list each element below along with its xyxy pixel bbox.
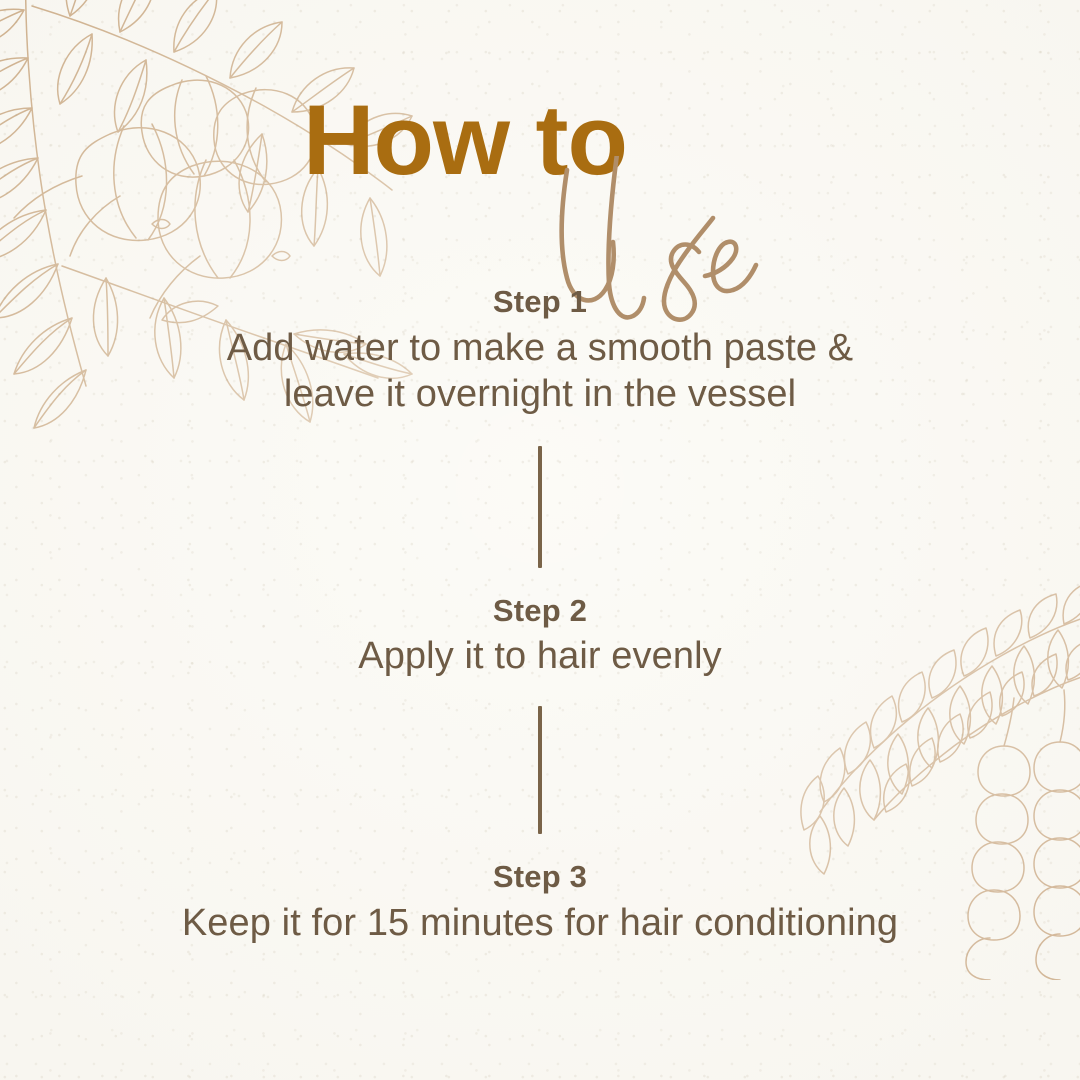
page-title: How to xyxy=(0,84,1080,274)
steps-list: Step 1 Add water to make a smooth paste … xyxy=(0,283,1080,946)
step-1-body: Add water to make a smooth paste & leave… xyxy=(0,325,1080,418)
step-2-label: Step 2 xyxy=(0,592,1080,630)
step-3-label: Step 3 xyxy=(0,858,1080,896)
step-3-body: Keep it for 15 minutes for hair conditio… xyxy=(0,900,1080,946)
step-connector-2 xyxy=(538,706,542,834)
step-2: Step 2 Apply it to hair evenly xyxy=(0,592,1080,680)
title-how-to: How to xyxy=(0,90,1080,189)
step-2-body: Apply it to hair evenly xyxy=(0,633,1080,679)
poster-canvas: How to Step 1 Add water to make a smooth… xyxy=(0,0,1080,1080)
step-1-label: Step 1 xyxy=(0,283,1080,321)
step-connector-1 xyxy=(538,446,542,568)
step-3: Step 3 Keep it for 15 minutes for hair c… xyxy=(0,858,1080,946)
step-1: Step 1 Add water to make a smooth paste … xyxy=(0,283,1080,418)
